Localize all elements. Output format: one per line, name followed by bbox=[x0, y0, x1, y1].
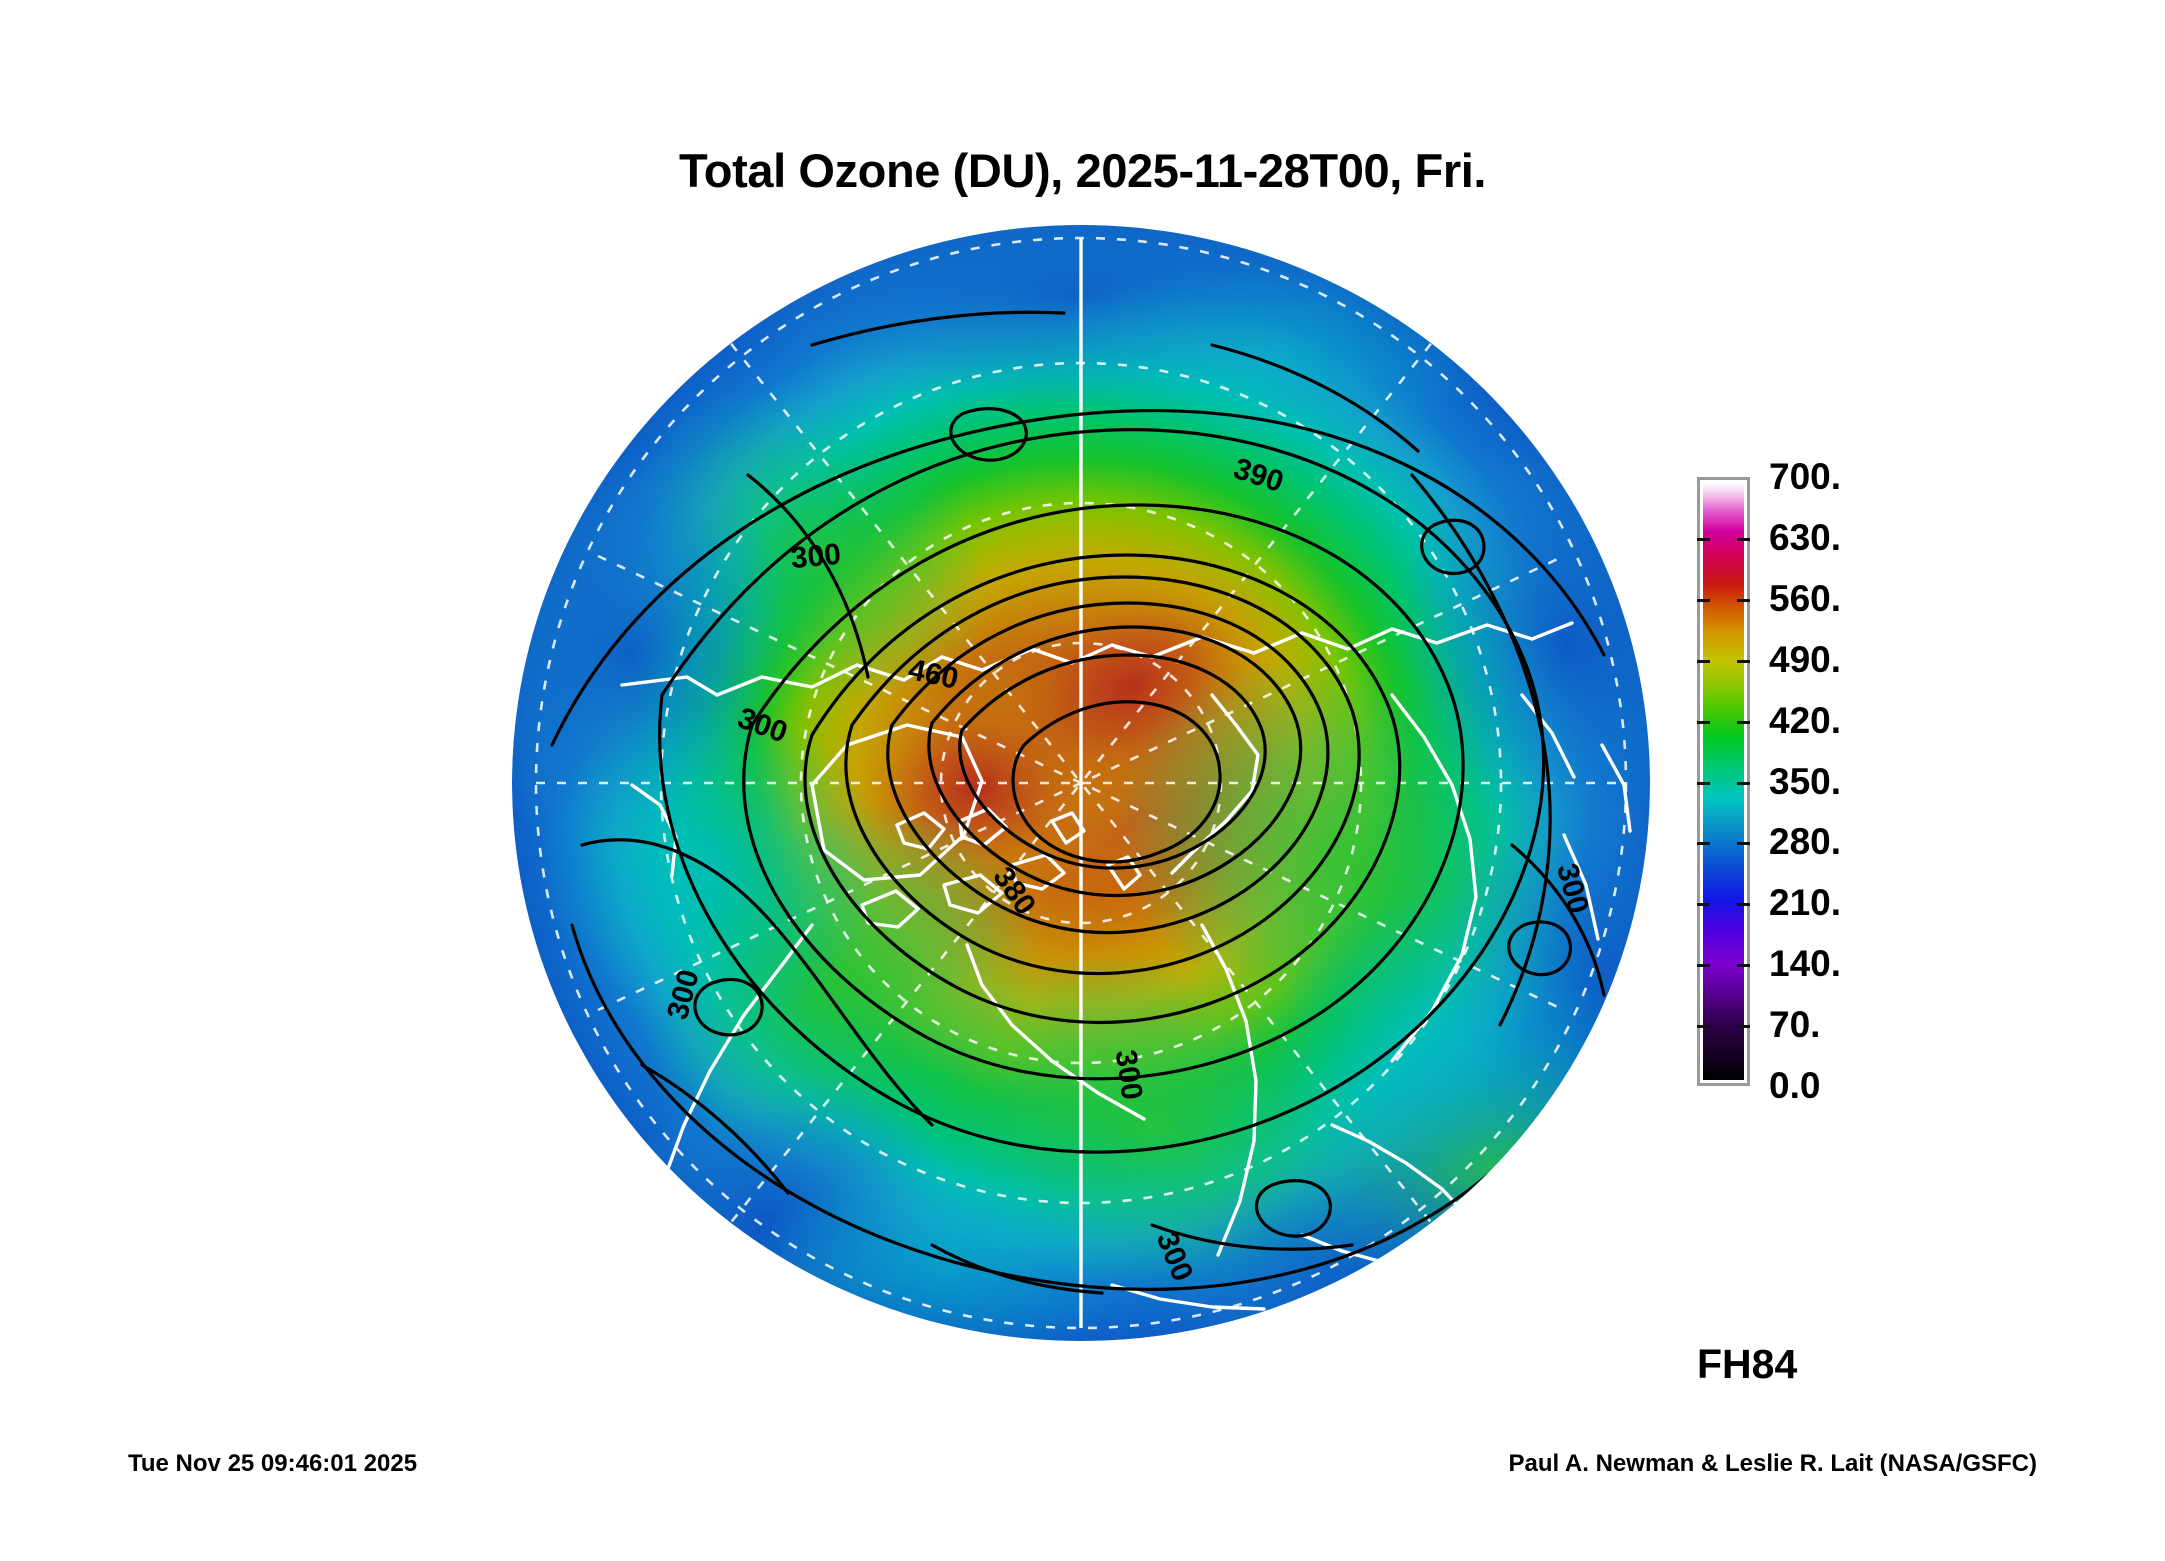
colorbar-tick bbox=[1697, 964, 1710, 967]
ozone-map-panel[interactable]: 300 300 300 300 390 460 380 bbox=[512, 225, 1651, 1341]
colorbar-label: 490. bbox=[1769, 639, 1841, 681]
colorbar-label: 630. bbox=[1769, 517, 1841, 559]
colorbar-tick bbox=[1737, 842, 1750, 845]
colorbar-label: 700. bbox=[1769, 456, 1841, 498]
colorbar-label: 70. bbox=[1769, 1004, 1820, 1046]
colorbar-tick bbox=[1697, 599, 1710, 602]
colorbar-label: 560. bbox=[1769, 578, 1841, 620]
globe-plot[interactable]: 300 300 300 300 390 460 380 bbox=[512, 225, 1651, 1341]
colorbar-label: 0.0 bbox=[1769, 1065, 1820, 1107]
colorbar-tick bbox=[1697, 1025, 1710, 1028]
colorbar-tick bbox=[1737, 1025, 1750, 1028]
colorbar-label: 420. bbox=[1769, 700, 1841, 742]
contour-label: 300 bbox=[789, 538, 842, 575]
colorbar-label: 140. bbox=[1769, 943, 1841, 985]
colorbar-tick bbox=[1697, 721, 1710, 724]
colorbar-tick bbox=[1697, 660, 1710, 663]
colorbar-tick bbox=[1697, 842, 1710, 845]
colorbar-tick bbox=[1697, 782, 1710, 785]
colorbar[interactable]: 700. 630. 560. 490. 420. 350. 280. 210. … bbox=[1697, 477, 2097, 1089]
forecast-hour-label: FH84 bbox=[1697, 1341, 1797, 1388]
colorbar-tick bbox=[1737, 903, 1750, 906]
colorbar-tick bbox=[1737, 721, 1750, 724]
generated-timestamp: Tue Nov 25 09:46:01 2025 bbox=[128, 1450, 417, 1478]
colorbar-tick bbox=[1697, 538, 1710, 541]
page-title: Total Ozone (DU), 2025-11-28T00, Fri. bbox=[0, 143, 2165, 198]
colorbar-tick bbox=[1737, 538, 1750, 541]
ozone-field: 300 300 300 300 390 460 380 bbox=[512, 225, 1651, 1341]
colorbar-tick bbox=[1737, 660, 1750, 663]
colorbar-label: 210. bbox=[1769, 882, 1841, 924]
contour-label: 300 bbox=[1109, 1048, 1149, 1102]
author-credit: Paul A. Newman & Leslie R. Lait (NASA/GS… bbox=[1508, 1450, 2037, 1478]
colorbar-tick bbox=[1737, 599, 1750, 602]
colorbar-label: 280. bbox=[1769, 821, 1841, 863]
colorbar-tick bbox=[1737, 964, 1750, 967]
colorbar-label: 350. bbox=[1769, 761, 1841, 803]
colorbar-tick bbox=[1737, 782, 1750, 785]
colorbar-tick bbox=[1697, 903, 1710, 906]
